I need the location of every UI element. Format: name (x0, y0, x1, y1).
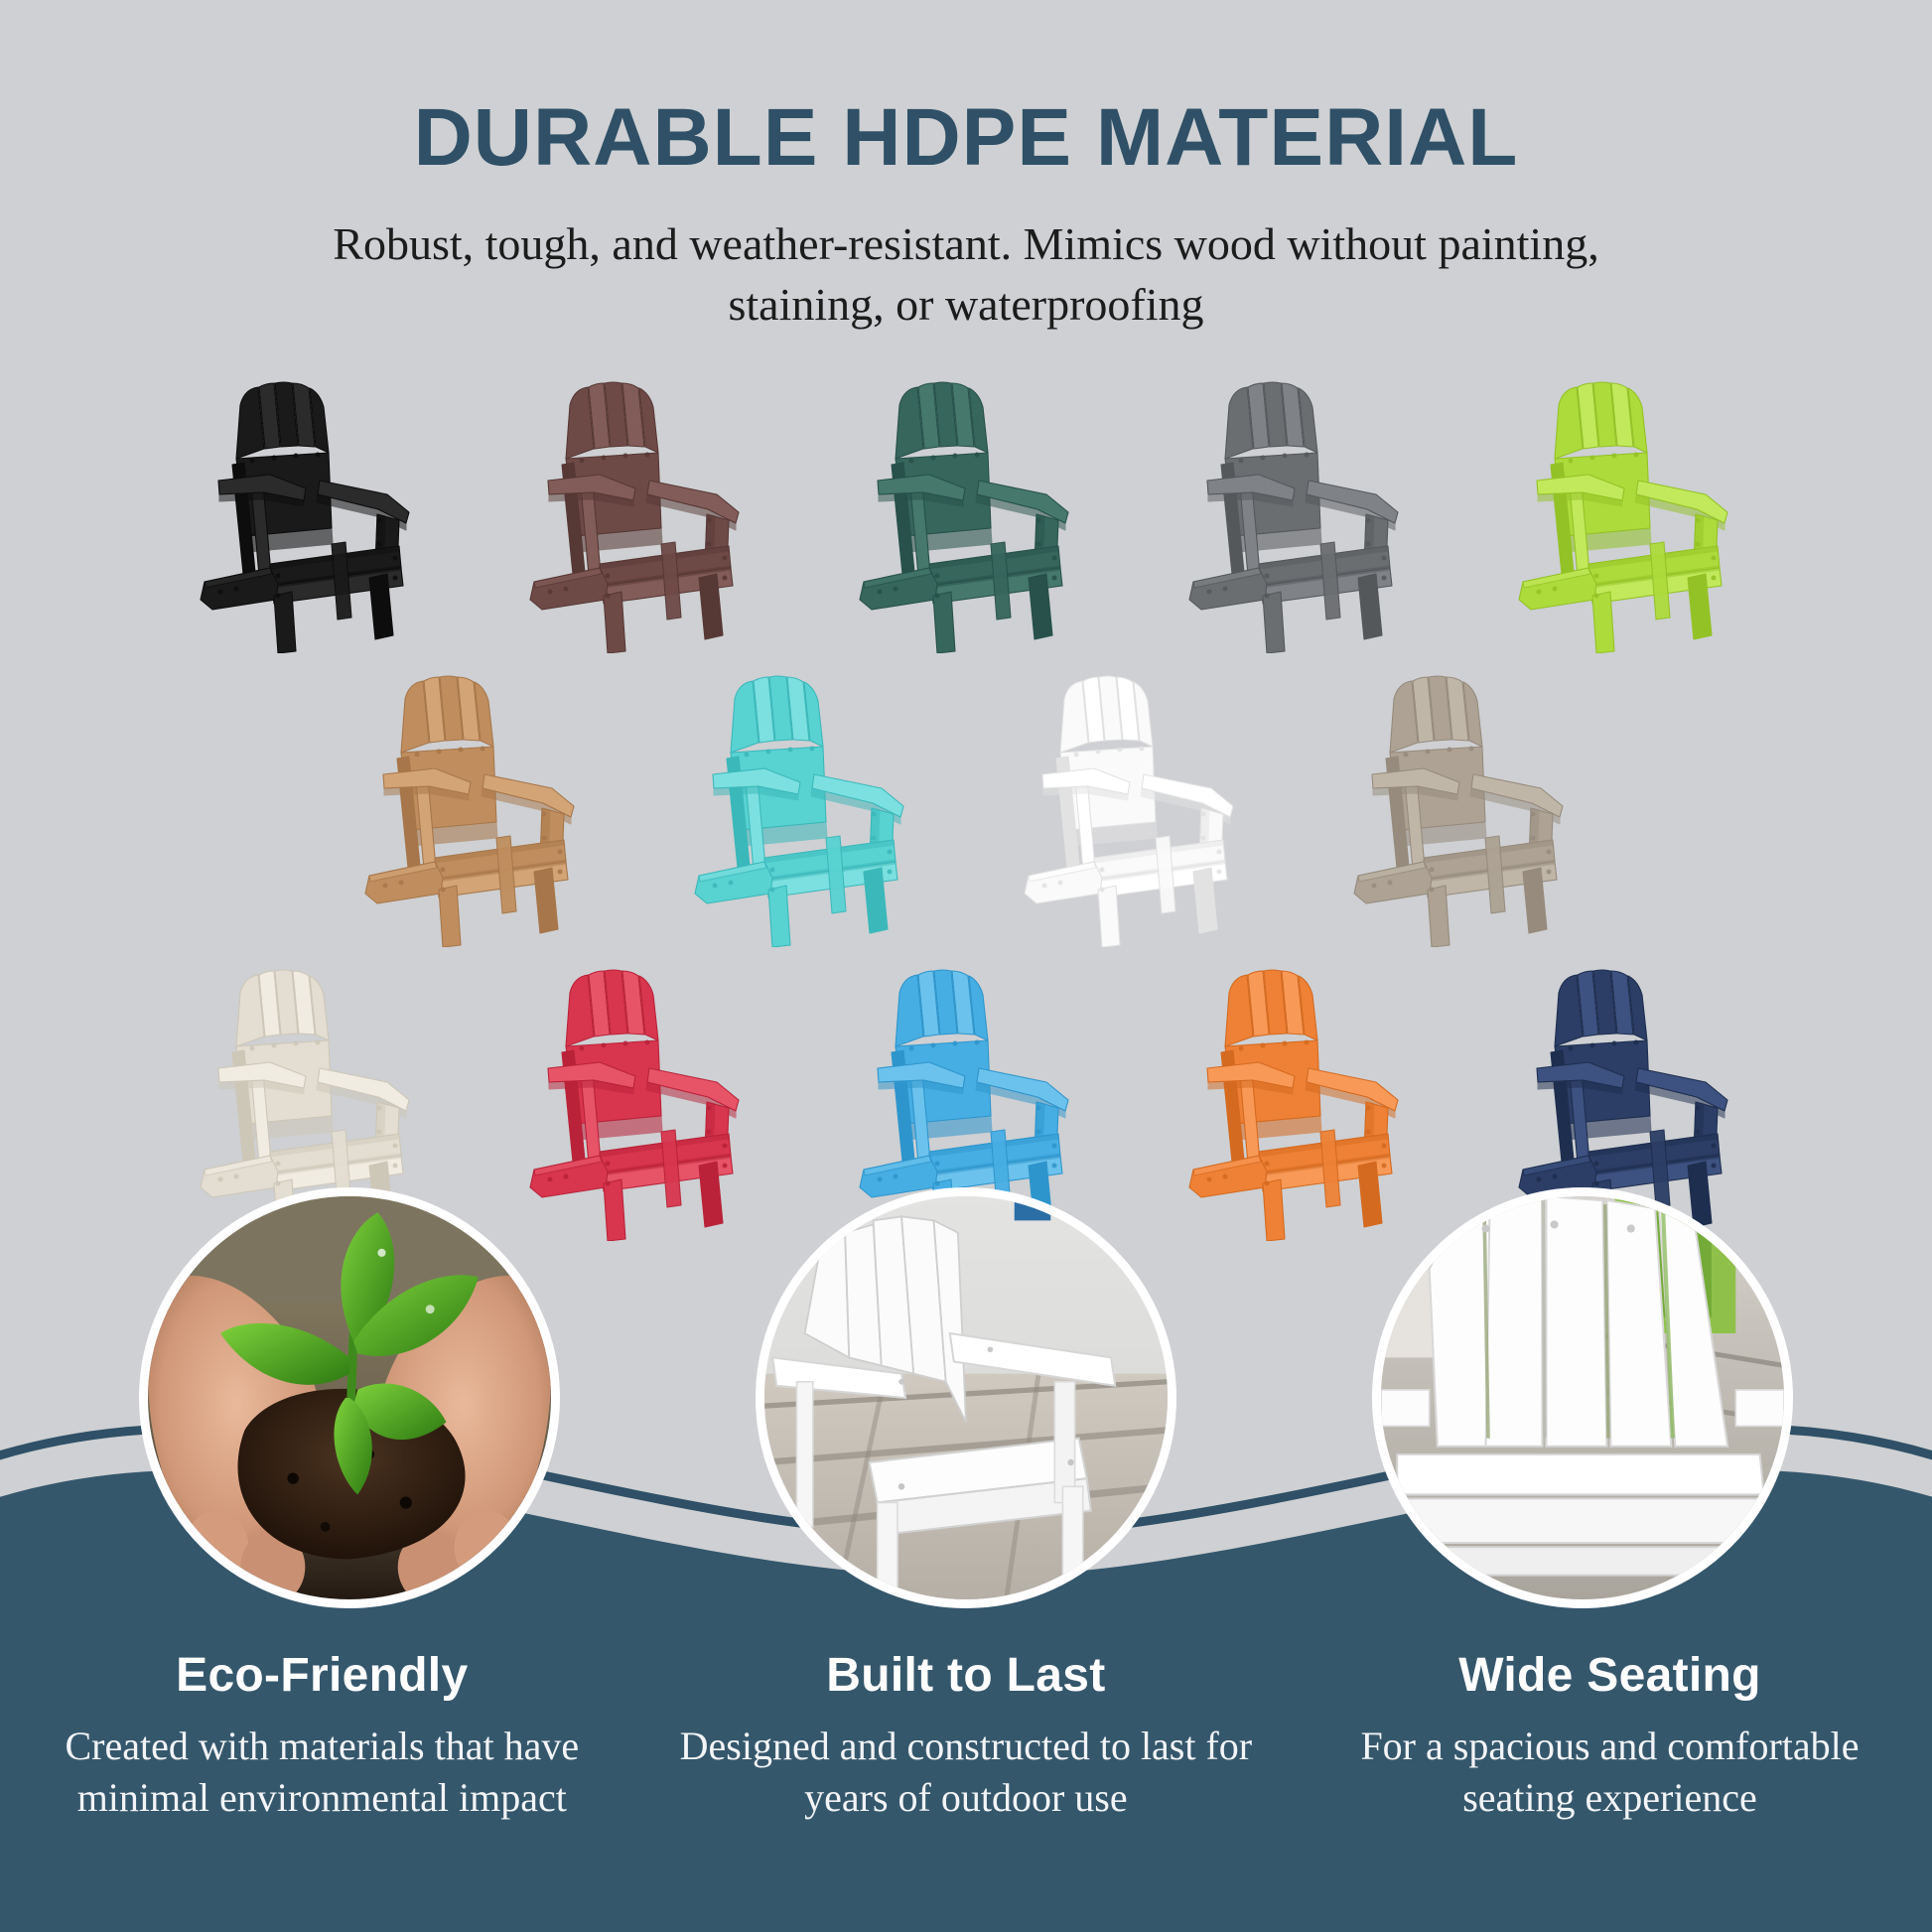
adirondack-chair-turquoise (669, 663, 933, 947)
adirondack-chair-lime-green (1493, 369, 1757, 653)
header-block: DURABLE HDPE MATERIAL Robust, tough, and… (0, 95, 1932, 336)
chair-swatch-teak[interactable] (340, 663, 604, 947)
infographic-canvas: DURABLE HDPE MATERIAL Robust, tough, and… (0, 0, 1932, 1932)
chair-swatch-gray-beige[interactable] (1328, 663, 1592, 947)
feature-title: Built to Last (678, 1648, 1255, 1703)
adirondack-chair-white (999, 663, 1263, 947)
feature-title: Wide Seating (1321, 1648, 1898, 1703)
feature-description: Created with materials that have minimal… (34, 1721, 611, 1824)
photo-wide-seat-chair (1372, 1187, 1793, 1608)
page-title: DURABLE HDPE MATERIAL (0, 95, 1932, 181)
adirondack-chair-dark-green (834, 369, 1098, 653)
photo-white-chair-patio (756, 1187, 1176, 1608)
adirondack-chair-teak (340, 663, 604, 947)
feature-photos (0, 1187, 1932, 1614)
chair-swatch-gray[interactable] (1164, 369, 1428, 653)
adirondack-chair-black (175, 369, 439, 653)
white-chair-patio-icon (764, 1196, 1168, 1599)
feature-item: Built to Last Designed and constructed t… (644, 1648, 1289, 1824)
page-subtitle: Robust, tough, and weather-resistant. Mi… (301, 214, 1631, 335)
feature-item: Eco-Friendly Created with materials that… (0, 1648, 644, 1824)
chair-row-2 (0, 663, 1932, 947)
wide-seat-chair-icon (1381, 1196, 1784, 1599)
adirondack-chair-gray (1164, 369, 1428, 653)
chair-swatch-black[interactable] (175, 369, 439, 653)
photo-hands-holding-seedling (139, 1187, 560, 1608)
chair-color-grid (0, 369, 1932, 1241)
chair-swatch-brown[interactable] (504, 369, 768, 653)
chair-row-1 (0, 369, 1932, 653)
chair-swatch-turquoise[interactable] (669, 663, 933, 947)
hands-seedling-icon (148, 1196, 551, 1599)
feature-title: Eco-Friendly (34, 1648, 611, 1703)
feature-description: Designed and constructed to last for yea… (678, 1721, 1255, 1824)
feature-item: Wide Seating For a spacious and comforta… (1288, 1648, 1932, 1824)
adirondack-chair-brown (504, 369, 768, 653)
feature-captions: Eco-Friendly Created with materials that… (0, 1648, 1932, 1824)
chair-swatch-white[interactable] (999, 663, 1263, 947)
chair-swatch-lime-green[interactable] (1493, 369, 1757, 653)
feature-description: For a spacious and comfortable seating e… (1321, 1721, 1898, 1824)
chair-swatch-dark-green[interactable] (834, 369, 1098, 653)
adirondack-chair-gray-beige (1328, 663, 1592, 947)
